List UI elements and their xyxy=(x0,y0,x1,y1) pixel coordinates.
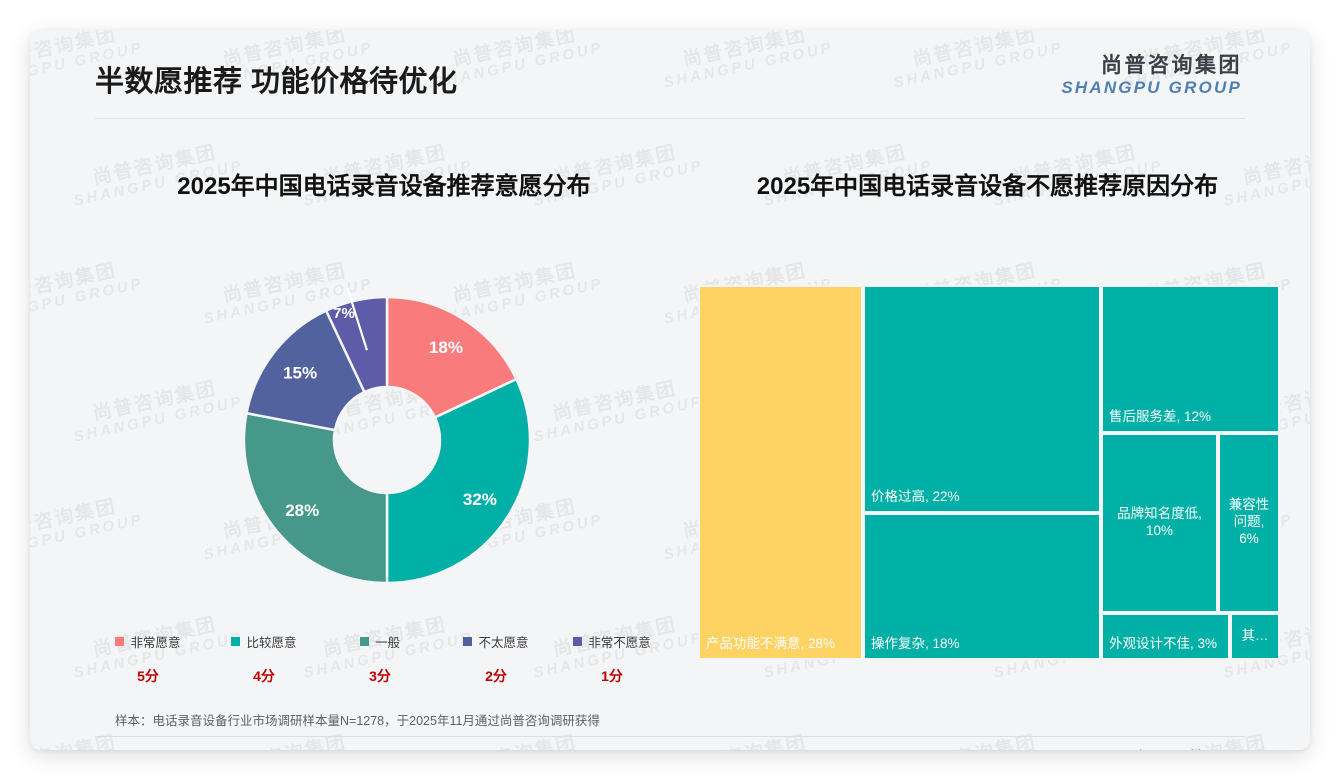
legend-score-label: 1分 xyxy=(554,666,670,690)
page-title: 半数愿推荐 功能价格待优化 xyxy=(95,58,458,100)
watermark-text: 尚普咨询集团SHANGPU GROUP xyxy=(1118,728,1295,750)
treemap-cell[interactable]: 价格过高, 22% xyxy=(863,285,1101,513)
company-logo: 尚普咨询集团 SHANGPU GROUP xyxy=(1061,54,1242,99)
treemap-cell[interactable]: 售后服务差, 12% xyxy=(1101,285,1280,433)
footer-copyright: ©2026.1 SHANGPU GROUP xyxy=(100,748,262,750)
header: 半数愿推荐 功能价格待优化 尚普咨询集团 SHANGPU GROUP xyxy=(30,30,1310,120)
watermark-text: 尚普咨询集团SHANGPU GROUP xyxy=(198,728,375,750)
treemap-cell[interactable]: 兼容性问题, 6% xyxy=(1218,433,1280,613)
treemap-cell-label: 售后服务差, 12% xyxy=(1103,405,1217,431)
donut-slice-label: 18% xyxy=(429,338,463,357)
donut-slice-label: 32% xyxy=(463,490,497,509)
donut-legend: 非常愿意比较愿意一般不太愿意非常不愿意 xyxy=(90,628,670,654)
donut-slice-label: 7% xyxy=(333,305,355,322)
sample-footnote: 样本：电话录音设备行业市场调研样本量N=1278，于2025年11月通过尚普咨询… xyxy=(115,710,600,729)
donut-score-row: 5分4分3分2分1分 xyxy=(90,666,670,690)
donut-chart-title: 2025年中国电话录音设备推荐意愿分布 xyxy=(114,166,654,201)
legend-item-label: 非常愿意 xyxy=(130,632,180,651)
treemap-cell-label: 品牌知名度低, 10% xyxy=(1103,502,1216,545)
treemap-cell[interactable]: 其… xyxy=(1230,613,1280,660)
donut-slice[interactable] xyxy=(244,413,387,583)
legend-swatch-icon xyxy=(115,637,124,646)
legend-item[interactable]: 非常不愿意 xyxy=(554,628,670,654)
legend-item[interactable]: 比较愿意 xyxy=(206,628,322,654)
logo-english-text: SHANGPU GROUP xyxy=(1061,78,1242,98)
treemap-cell[interactable]: 外观设计不佳, 3% xyxy=(1101,613,1230,660)
watermark-text: 尚普咨询集团SHANGPU GROUP xyxy=(428,728,605,750)
legend-swatch-icon xyxy=(231,637,240,646)
footer-divider xyxy=(95,736,1245,737)
header-divider xyxy=(95,118,1245,119)
treemap-cell-label: 其… xyxy=(1236,624,1275,650)
treemap-cell-label: 价格过高, 22% xyxy=(865,485,966,511)
treemap-cell-label: 兼容性问题, 6% xyxy=(1220,493,1278,553)
treemap-cell[interactable]: 品牌知名度低, 10% xyxy=(1101,433,1218,613)
legend-score-label: 2分 xyxy=(438,666,554,690)
legend-score-label: 4分 xyxy=(206,666,322,690)
legend-score-label: 3分 xyxy=(322,666,438,690)
legend-item-label: 一般 xyxy=(375,632,400,651)
watermark-text: 尚普咨询集团SHANGPU GROUP xyxy=(30,728,145,750)
footer-website[interactable]: www.shangpu-china.com xyxy=(1103,748,1242,750)
donut-chart: 18%32%28%15%7% xyxy=(90,250,670,640)
donut-slice-label: 28% xyxy=(285,501,319,520)
slide-page: 尚普咨询集团SHANGPU GROUP尚普咨询集团SHANGPU GROUP尚普… xyxy=(0,0,1340,780)
logo-chinese-text: 尚普咨询集团 xyxy=(1061,54,1242,78)
watermark-text: 尚普咨询集团SHANGPU GROUP xyxy=(888,728,1065,750)
treemap-cell[interactable]: 操作复杂, 18% xyxy=(863,513,1101,660)
treemap-chart-title: 2025年中国电话录音设备不愿推荐原因分布 xyxy=(695,166,1280,201)
treemap-cell-label: 操作复杂, 18% xyxy=(865,632,966,658)
legend-swatch-icon xyxy=(573,637,582,646)
legend-score-label: 5分 xyxy=(90,666,206,690)
treemap-chart: 产品功能不满意, 28%价格过高, 22%操作复杂, 18%售后服务差, 12%… xyxy=(698,285,1280,660)
report-card: 尚普咨询集团SHANGPU GROUP尚普咨询集团SHANGPU GROUP尚普… xyxy=(30,30,1310,750)
legend-item-label: 非常不愿意 xyxy=(588,632,651,651)
donut-chart-svg: 18%32%28%15%7% xyxy=(90,250,670,640)
legend-swatch-icon xyxy=(463,637,472,646)
watermark-text: 尚普咨询集团SHANGPU GROUP xyxy=(658,728,835,750)
legend-item-label: 不太愿意 xyxy=(478,632,528,651)
legend-swatch-icon xyxy=(360,637,369,646)
treemap-cell[interactable]: 产品功能不满意, 28% xyxy=(698,285,863,660)
legend-item[interactable]: 非常愿意 xyxy=(90,628,206,654)
legend-item-label: 比较愿意 xyxy=(246,632,296,651)
legend-item[interactable]: 不太愿意 xyxy=(438,628,554,654)
donut-slice[interactable] xyxy=(387,379,530,583)
legend-item[interactable]: 一般 xyxy=(322,628,438,654)
donut-slice-label: 15% xyxy=(283,364,317,383)
treemap-cell-label: 外观设计不佳, 3% xyxy=(1103,632,1223,658)
treemap-cell-label: 产品功能不满意, 28% xyxy=(700,632,841,658)
